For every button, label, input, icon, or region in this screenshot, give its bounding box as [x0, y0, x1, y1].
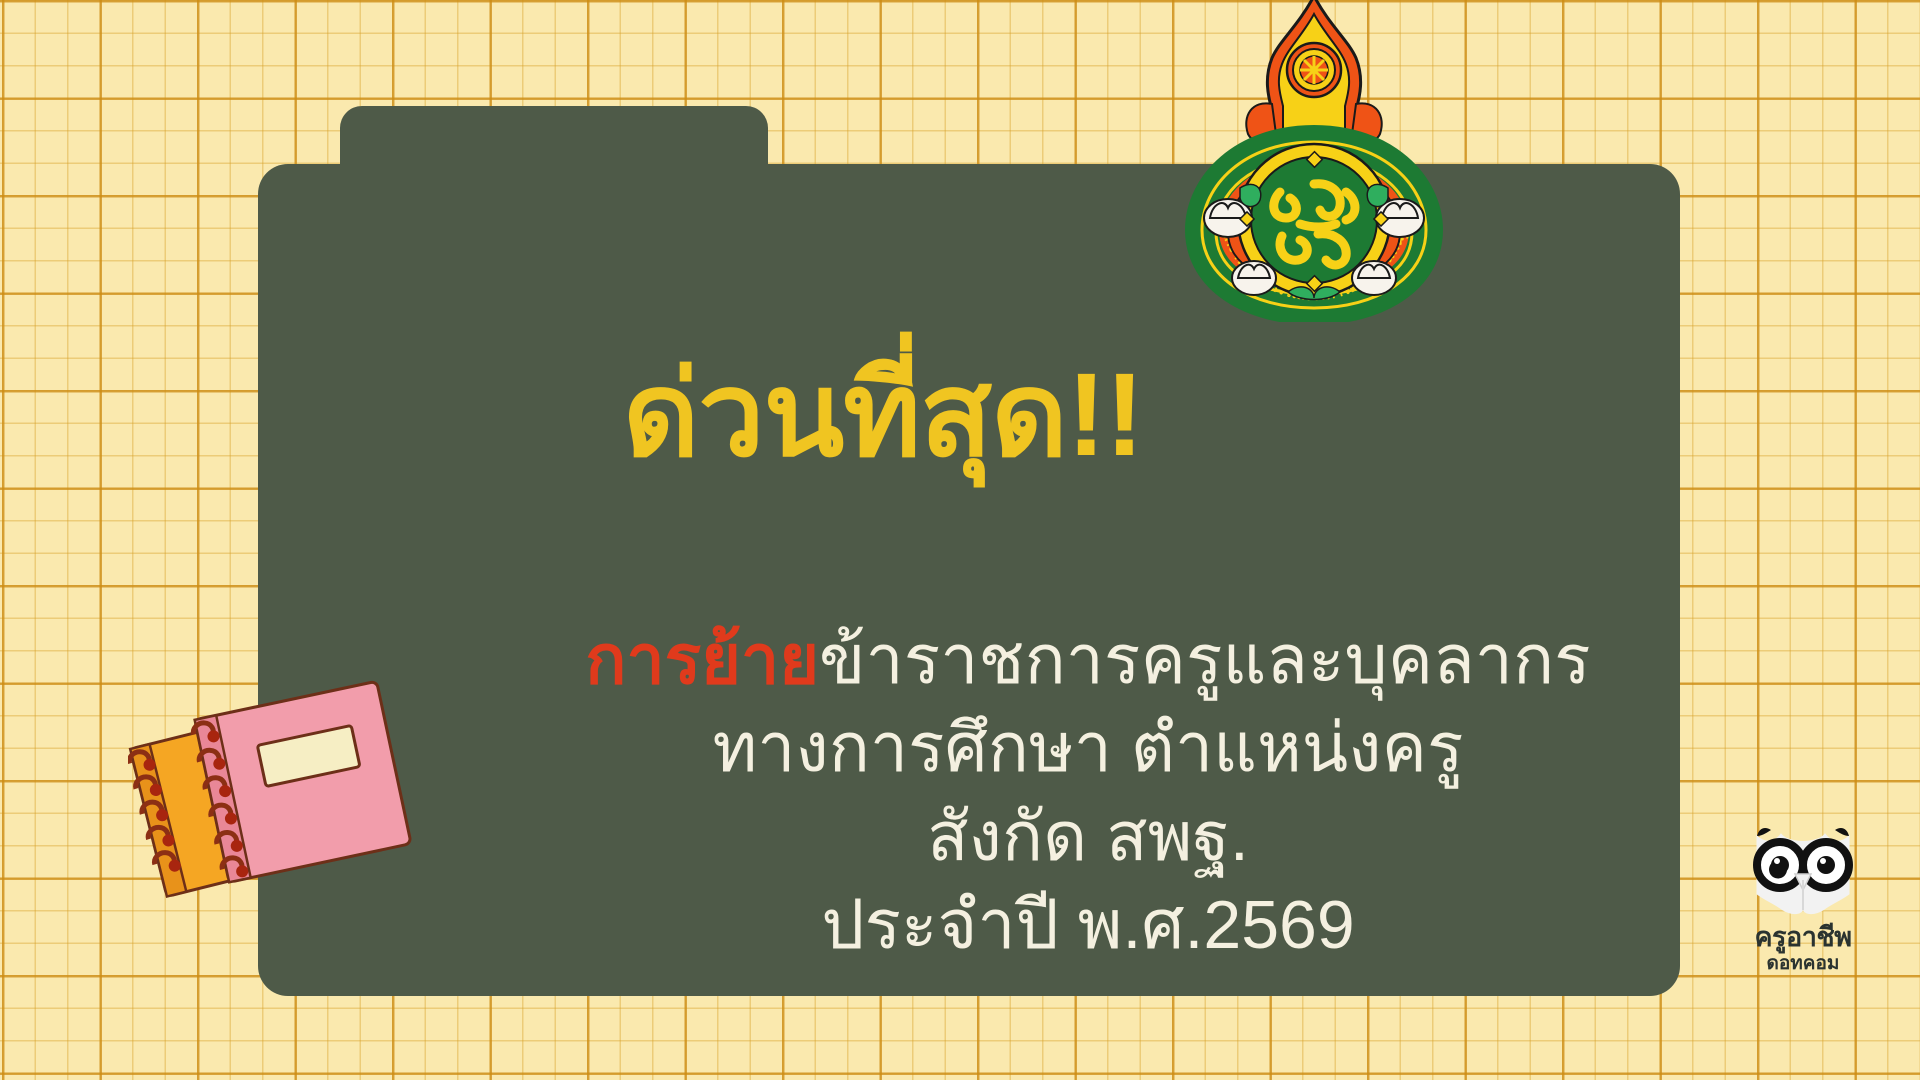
body-line-1-text: ข้าราชการครูและบุคลากร	[819, 622, 1591, 698]
body-line-4: ประจำปี พ.ศ.2569	[468, 881, 1708, 969]
owl-book-icon	[1743, 818, 1863, 922]
brand-name: ครูอาชีพ	[1713, 924, 1893, 951]
brand-logo: ครูอาชีพ ดอทคอม	[1713, 818, 1893, 988]
body-line-3: สังกัด สพฐ.	[468, 793, 1708, 881]
folder-body: ด่วนที่สุด!! การย้ายข้าราชการครูและบุคลา…	[258, 164, 1680, 996]
body-line-1: การย้ายข้าราชการครูและบุคลากร	[468, 616, 1708, 704]
poster-canvas: ด่วนที่สุด!! การย้ายข้าราชการครูและบุคลา…	[0, 0, 1920, 1080]
page-title: ด่วนที่สุด!!	[258, 354, 1508, 478]
brand-suffix: ดอทคอม	[1713, 954, 1893, 975]
folder-card: ด่วนที่สุด!! การย้ายข้าราชการครูและบุคลา…	[258, 106, 1680, 996]
body-line-2: ทางการศึกษา ตำแหน่งครู	[468, 704, 1708, 792]
obec-emblem-icon: สำนักงานคณะกรรมการการศึกษาขั้นพื้นฐาน	[1180, 0, 1448, 322]
body-line-1-highlight: การย้าย	[585, 622, 819, 698]
notebooks-illustration	[128, 630, 438, 910]
announcement-body: การย้ายข้าราชการครูและบุคลากร ทางการศึกษ…	[468, 616, 1708, 970]
